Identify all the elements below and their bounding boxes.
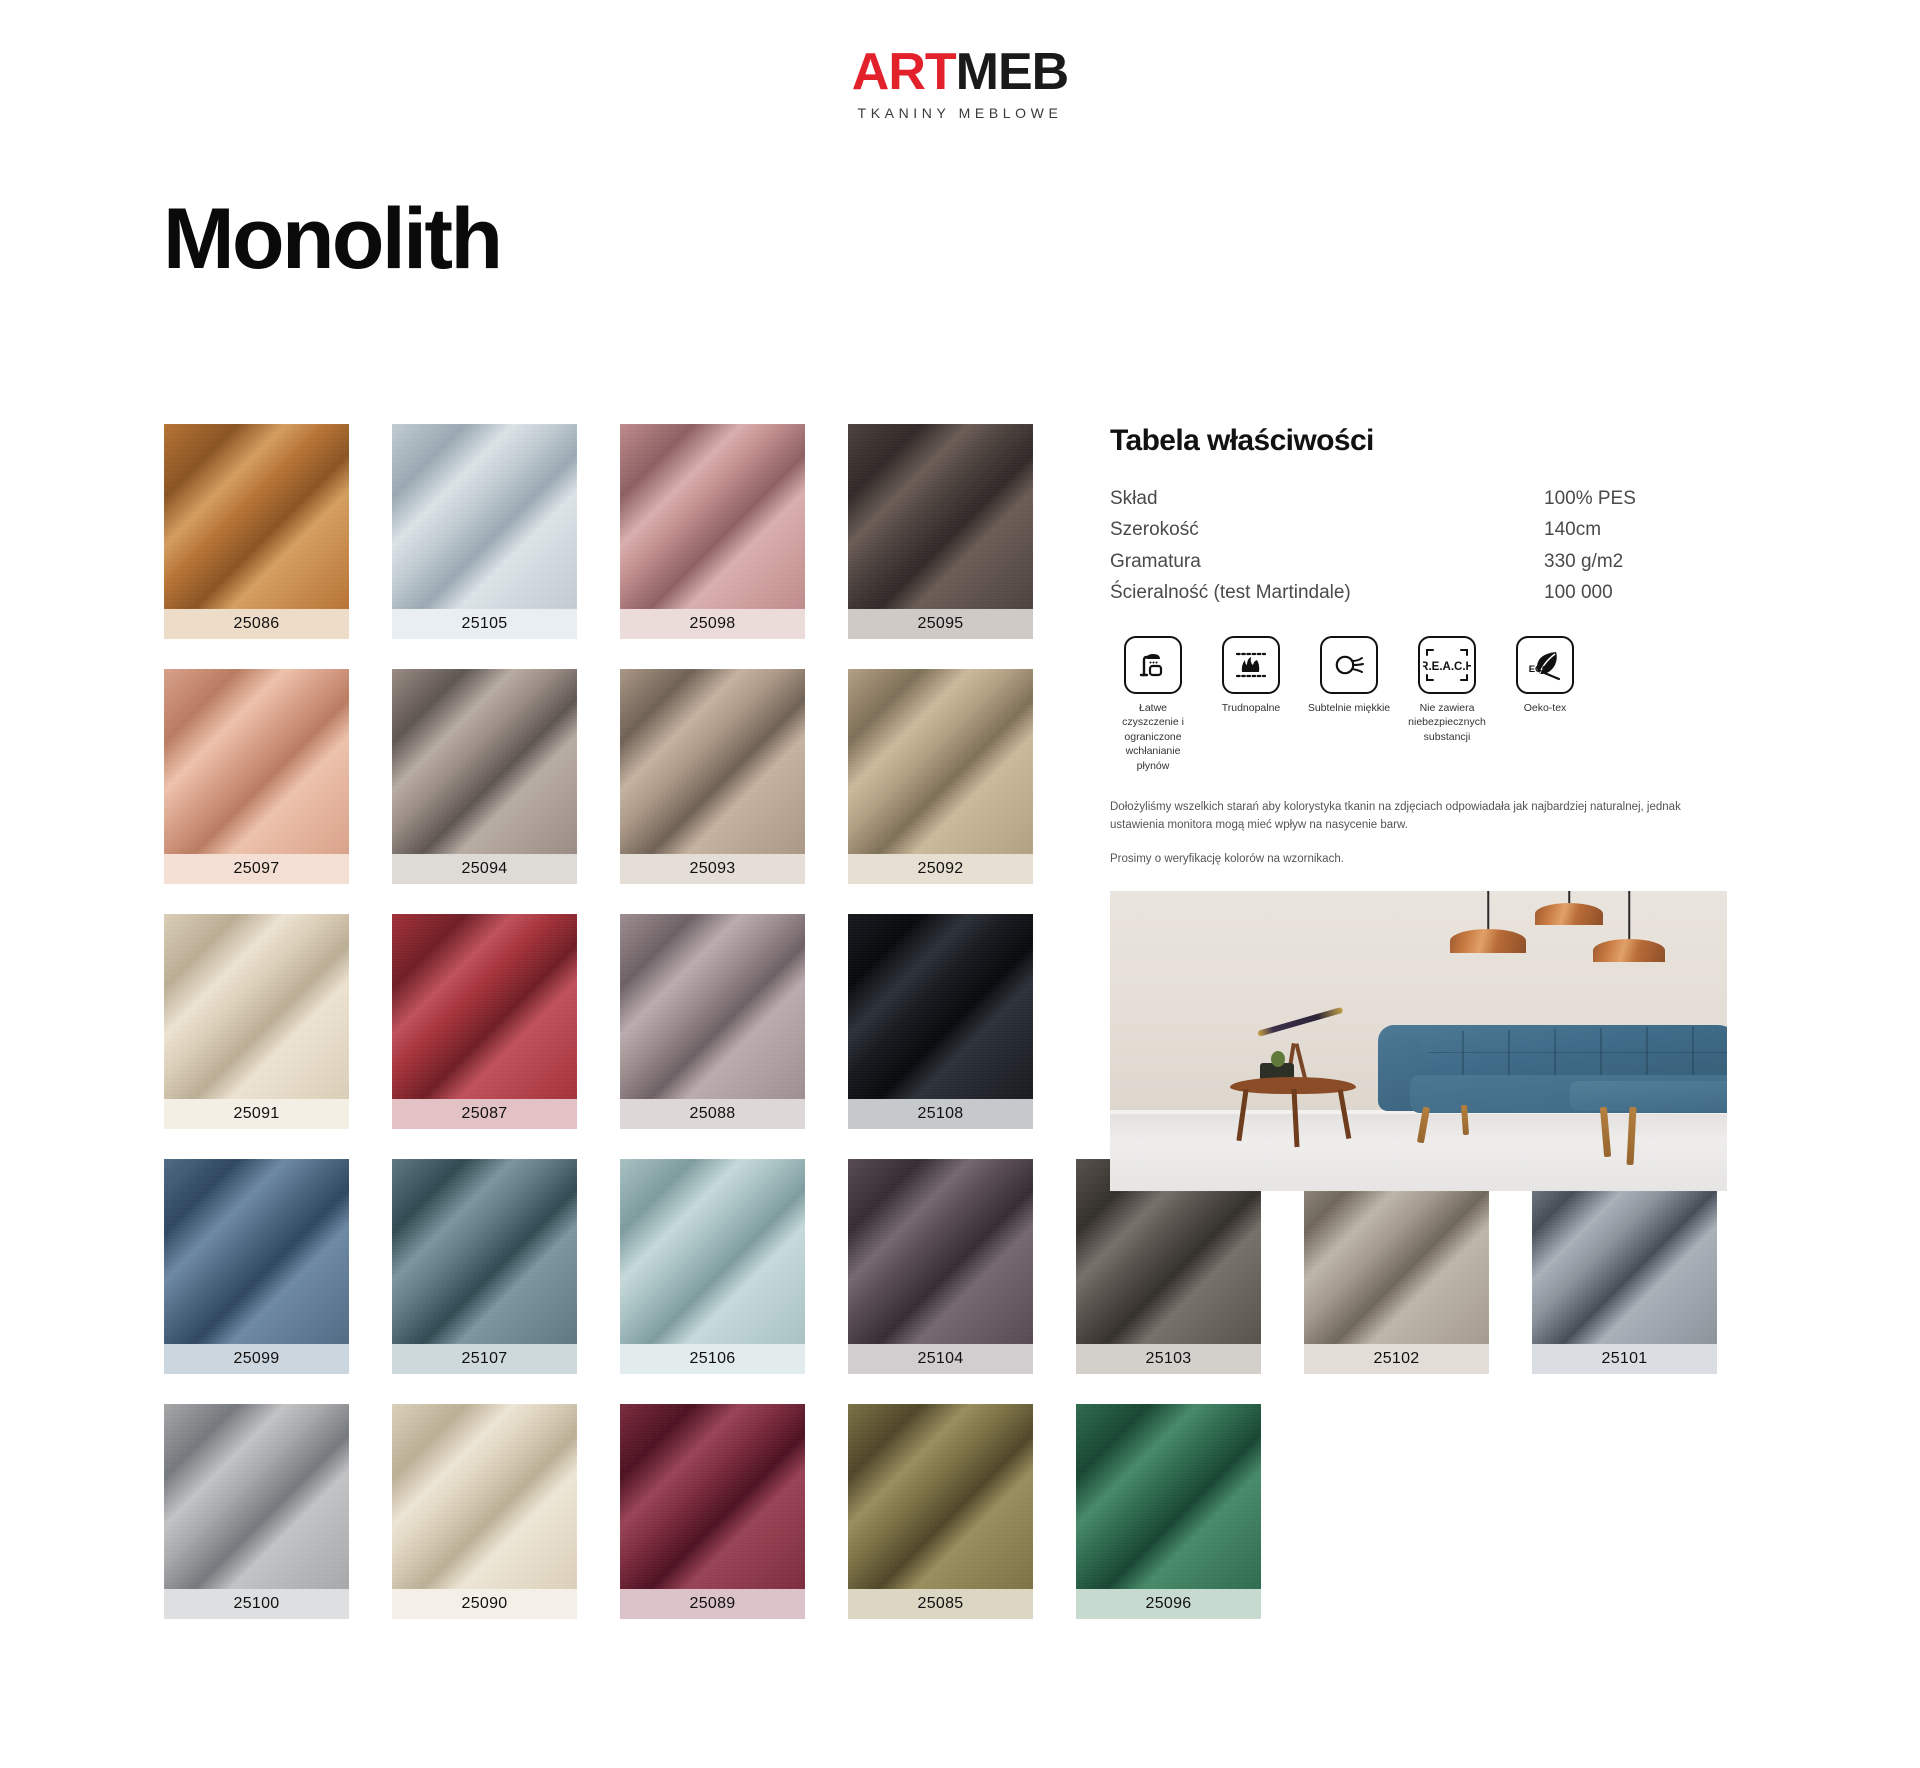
swatch-code-label: 25104 [848, 1344, 1033, 1374]
swatch-code-label: 25101 [1532, 1344, 1717, 1374]
swatch-image [620, 1404, 805, 1589]
property-row: Ścieralność (test Martindale)100 000 [1110, 577, 1730, 608]
properties-panel: Tabela właściwości Skład100% PESSzerokoś… [1110, 424, 1730, 1191]
swatch-image [848, 1404, 1033, 1589]
feature-caption: Oeko-tex [1502, 701, 1588, 715]
swatch-25099[interactable]: 25099 [164, 1159, 349, 1374]
feature-caption: Subtelnie miękkie [1306, 701, 1392, 715]
swatch-image [848, 1159, 1033, 1344]
feature-flame-retardant-icon: Trudnopalne [1208, 636, 1294, 773]
swatch-25095[interactable]: 25095 [848, 424, 1033, 639]
feature-caption: Nie zawiera niebezpiecznych substancji [1404, 701, 1490, 744]
swatch-25097[interactable]: 25097 [164, 669, 349, 884]
swatch-image [164, 914, 349, 1099]
swatch-image [164, 424, 349, 609]
pendant-lamp-right [1593, 891, 1665, 961]
swatch-code-label: 25105 [392, 609, 577, 639]
swatch-image [620, 669, 805, 854]
sofa-tuft-v5 [1646, 1027, 1648, 1075]
swatch-25098[interactable]: 25098 [620, 424, 805, 639]
pendant-lamp-left [1450, 891, 1526, 951]
swatch-25107[interactable]: 25107 [392, 1159, 577, 1374]
swatch-image [392, 424, 577, 609]
feature-easy-clean-icon: Łatwe czyszczenie i ograniczone wchłania… [1110, 636, 1196, 773]
ottoman-bench [1570, 1081, 1727, 1111]
swatch-image [392, 914, 577, 1099]
swatch-image [392, 1404, 577, 1589]
swatch-image [620, 424, 805, 609]
disclaimer-paragraph-2: Prosimy o weryfikację kolorów na wzornik… [1110, 851, 1722, 868]
swatch-25088[interactable]: 25088 [620, 914, 805, 1129]
feature-eco-leaf-icon: ECOOeko-tex [1502, 636, 1588, 773]
property-label: Skład [1110, 483, 1500, 514]
property-value: 140cm [1500, 514, 1730, 545]
properties-title: Tabela właściwości [1110, 424, 1730, 458]
disclaimer-paragraph-1: Dołożyliśmy wszelkich starań aby kolorys… [1110, 799, 1722, 834]
logo-art-text: ART [852, 43, 956, 101]
swatch-25093[interactable]: 25093 [620, 669, 805, 884]
swatch-code-label: 25089 [620, 1589, 805, 1619]
swatch-code-label: 25091 [164, 1099, 349, 1129]
svg-text:ECO: ECO [1529, 664, 1550, 675]
swatch-code-label: 25085 [848, 1589, 1033, 1619]
swatch-code-label: 25107 [392, 1344, 577, 1374]
swatch-image [392, 1159, 577, 1344]
swatch-25089[interactable]: 25089 [620, 1404, 805, 1619]
reach-icon: R.E.A.C.H [1418, 636, 1476, 694]
swatch-25100[interactable]: 25100 [164, 1404, 349, 1619]
sofa-tuft-v6 [1692, 1026, 1694, 1075]
easy-clean-icon [1124, 636, 1182, 694]
swatch-25104[interactable]: 25104 [848, 1159, 1033, 1374]
property-row: Szerokość140cm [1110, 514, 1730, 545]
swatch-25092[interactable]: 25092 [848, 669, 1033, 884]
swatch-image [164, 1404, 349, 1589]
swatch-image [1076, 1404, 1261, 1589]
swatch-image [848, 669, 1033, 854]
property-row: Gramatura330 g/m2 [1110, 546, 1730, 577]
swatch-code-label: 25102 [1304, 1344, 1489, 1374]
feature-caption: Trudnopalne [1208, 701, 1294, 715]
swatch-code-label: 25097 [164, 854, 349, 884]
swatch-image [620, 1159, 805, 1344]
logo-tagline: TKANINY MEBLOWE [0, 105, 1920, 121]
swatch-row: 25099251072510625104251032510225101 [164, 1159, 1764, 1374]
swatch-code-label: 25099 [164, 1344, 349, 1374]
swatch-code-label: 25098 [620, 609, 805, 639]
svg-text:R.E.A.C.H: R.E.A.C.H [1423, 661, 1471, 673]
feature-icons-row: Łatwe czyszczenie i ograniczone wchłania… [1110, 636, 1730, 773]
swatch-25108[interactable]: 25108 [848, 914, 1033, 1129]
property-value: 100% PES [1500, 483, 1730, 514]
sofa-tuft-h1 [1428, 1052, 1727, 1054]
swatch-image [620, 914, 805, 1099]
property-label: Ścieralność (test Martindale) [1110, 577, 1500, 608]
swatch-25103[interactable]: 25103 [1076, 1159, 1261, 1374]
properties-table: Skład100% PESSzerokość140cmGramatura330 … [1110, 483, 1730, 608]
interior-photo [1110, 891, 1727, 1191]
swatch-25106[interactable]: 25106 [620, 1159, 805, 1374]
swatch-25094[interactable]: 25094 [392, 669, 577, 884]
swatch-code-label: 25095 [848, 609, 1033, 639]
swatch-code-label: 25087 [392, 1099, 577, 1129]
swatch-code-label: 25106 [620, 1344, 805, 1374]
cactus-plant [1271, 1051, 1285, 1067]
swatch-code-label: 25093 [620, 854, 805, 884]
logo-meb-text: MEB [956, 43, 1069, 101]
feature-caption: Łatwe czyszczenie i ograniczone wchłania… [1110, 701, 1196, 773]
swatch-code-label: 25096 [1076, 1589, 1261, 1619]
swatch-image [392, 669, 577, 854]
swatch-25090[interactable]: 25090 [392, 1404, 577, 1619]
property-value: 100 000 [1500, 577, 1730, 608]
swatch-image [164, 669, 349, 854]
swatch-25105[interactable]: 25105 [392, 424, 577, 639]
flame-retardant-icon [1222, 636, 1280, 694]
disclaimer-block: Dołożyliśmy wszelkich starań aby kolorys… [1110, 799, 1722, 868]
property-label: Szerokość [1110, 514, 1500, 545]
swatch-row: 2510025090250892508525096 [164, 1404, 1764, 1619]
swatch-code-label: 25108 [848, 1099, 1033, 1129]
feature-reach-icon: R.E.A.C.HNie zawiera niebezpiecznych sub… [1404, 636, 1490, 773]
swatch-code-label: 25092 [848, 854, 1033, 884]
property-row: Skład100% PES [1110, 483, 1730, 514]
swatch-25091[interactable]: 25091 [164, 914, 349, 1129]
feature-soft-touch-icon: Subtelnie miękkie [1306, 636, 1392, 773]
page-title: Monolith [163, 196, 500, 282]
swatch-image [848, 914, 1033, 1099]
swatch-code-label: 25088 [620, 1099, 805, 1129]
property-label: Gramatura [1110, 546, 1500, 577]
swatch-code-label: 25090 [392, 1589, 577, 1619]
eco-leaf-icon: ECO [1516, 636, 1574, 694]
swatch-image [848, 424, 1033, 609]
swatch-25101[interactable]: 25101 [1532, 1159, 1717, 1374]
soft-touch-icon [1320, 636, 1378, 694]
swatch-image [164, 1159, 349, 1344]
swatch-code-label: 25103 [1076, 1344, 1261, 1374]
property-value: 330 g/m2 [1500, 546, 1730, 577]
swatch-25085[interactable]: 25085 [848, 1404, 1033, 1619]
swatch-25096[interactable]: 25096 [1076, 1404, 1261, 1619]
swatch-25102[interactable]: 25102 [1304, 1159, 1489, 1374]
brand-logo: ARTMEB TKANINY MEBLOWE [0, 46, 1920, 121]
swatch-code-label: 25100 [164, 1589, 349, 1619]
swatch-code-label: 25094 [392, 854, 577, 884]
swatch-25086[interactable]: 25086 [164, 424, 349, 639]
swatch-code-label: 25086 [164, 609, 349, 639]
swatch-25087[interactable]: 25087 [392, 914, 577, 1129]
